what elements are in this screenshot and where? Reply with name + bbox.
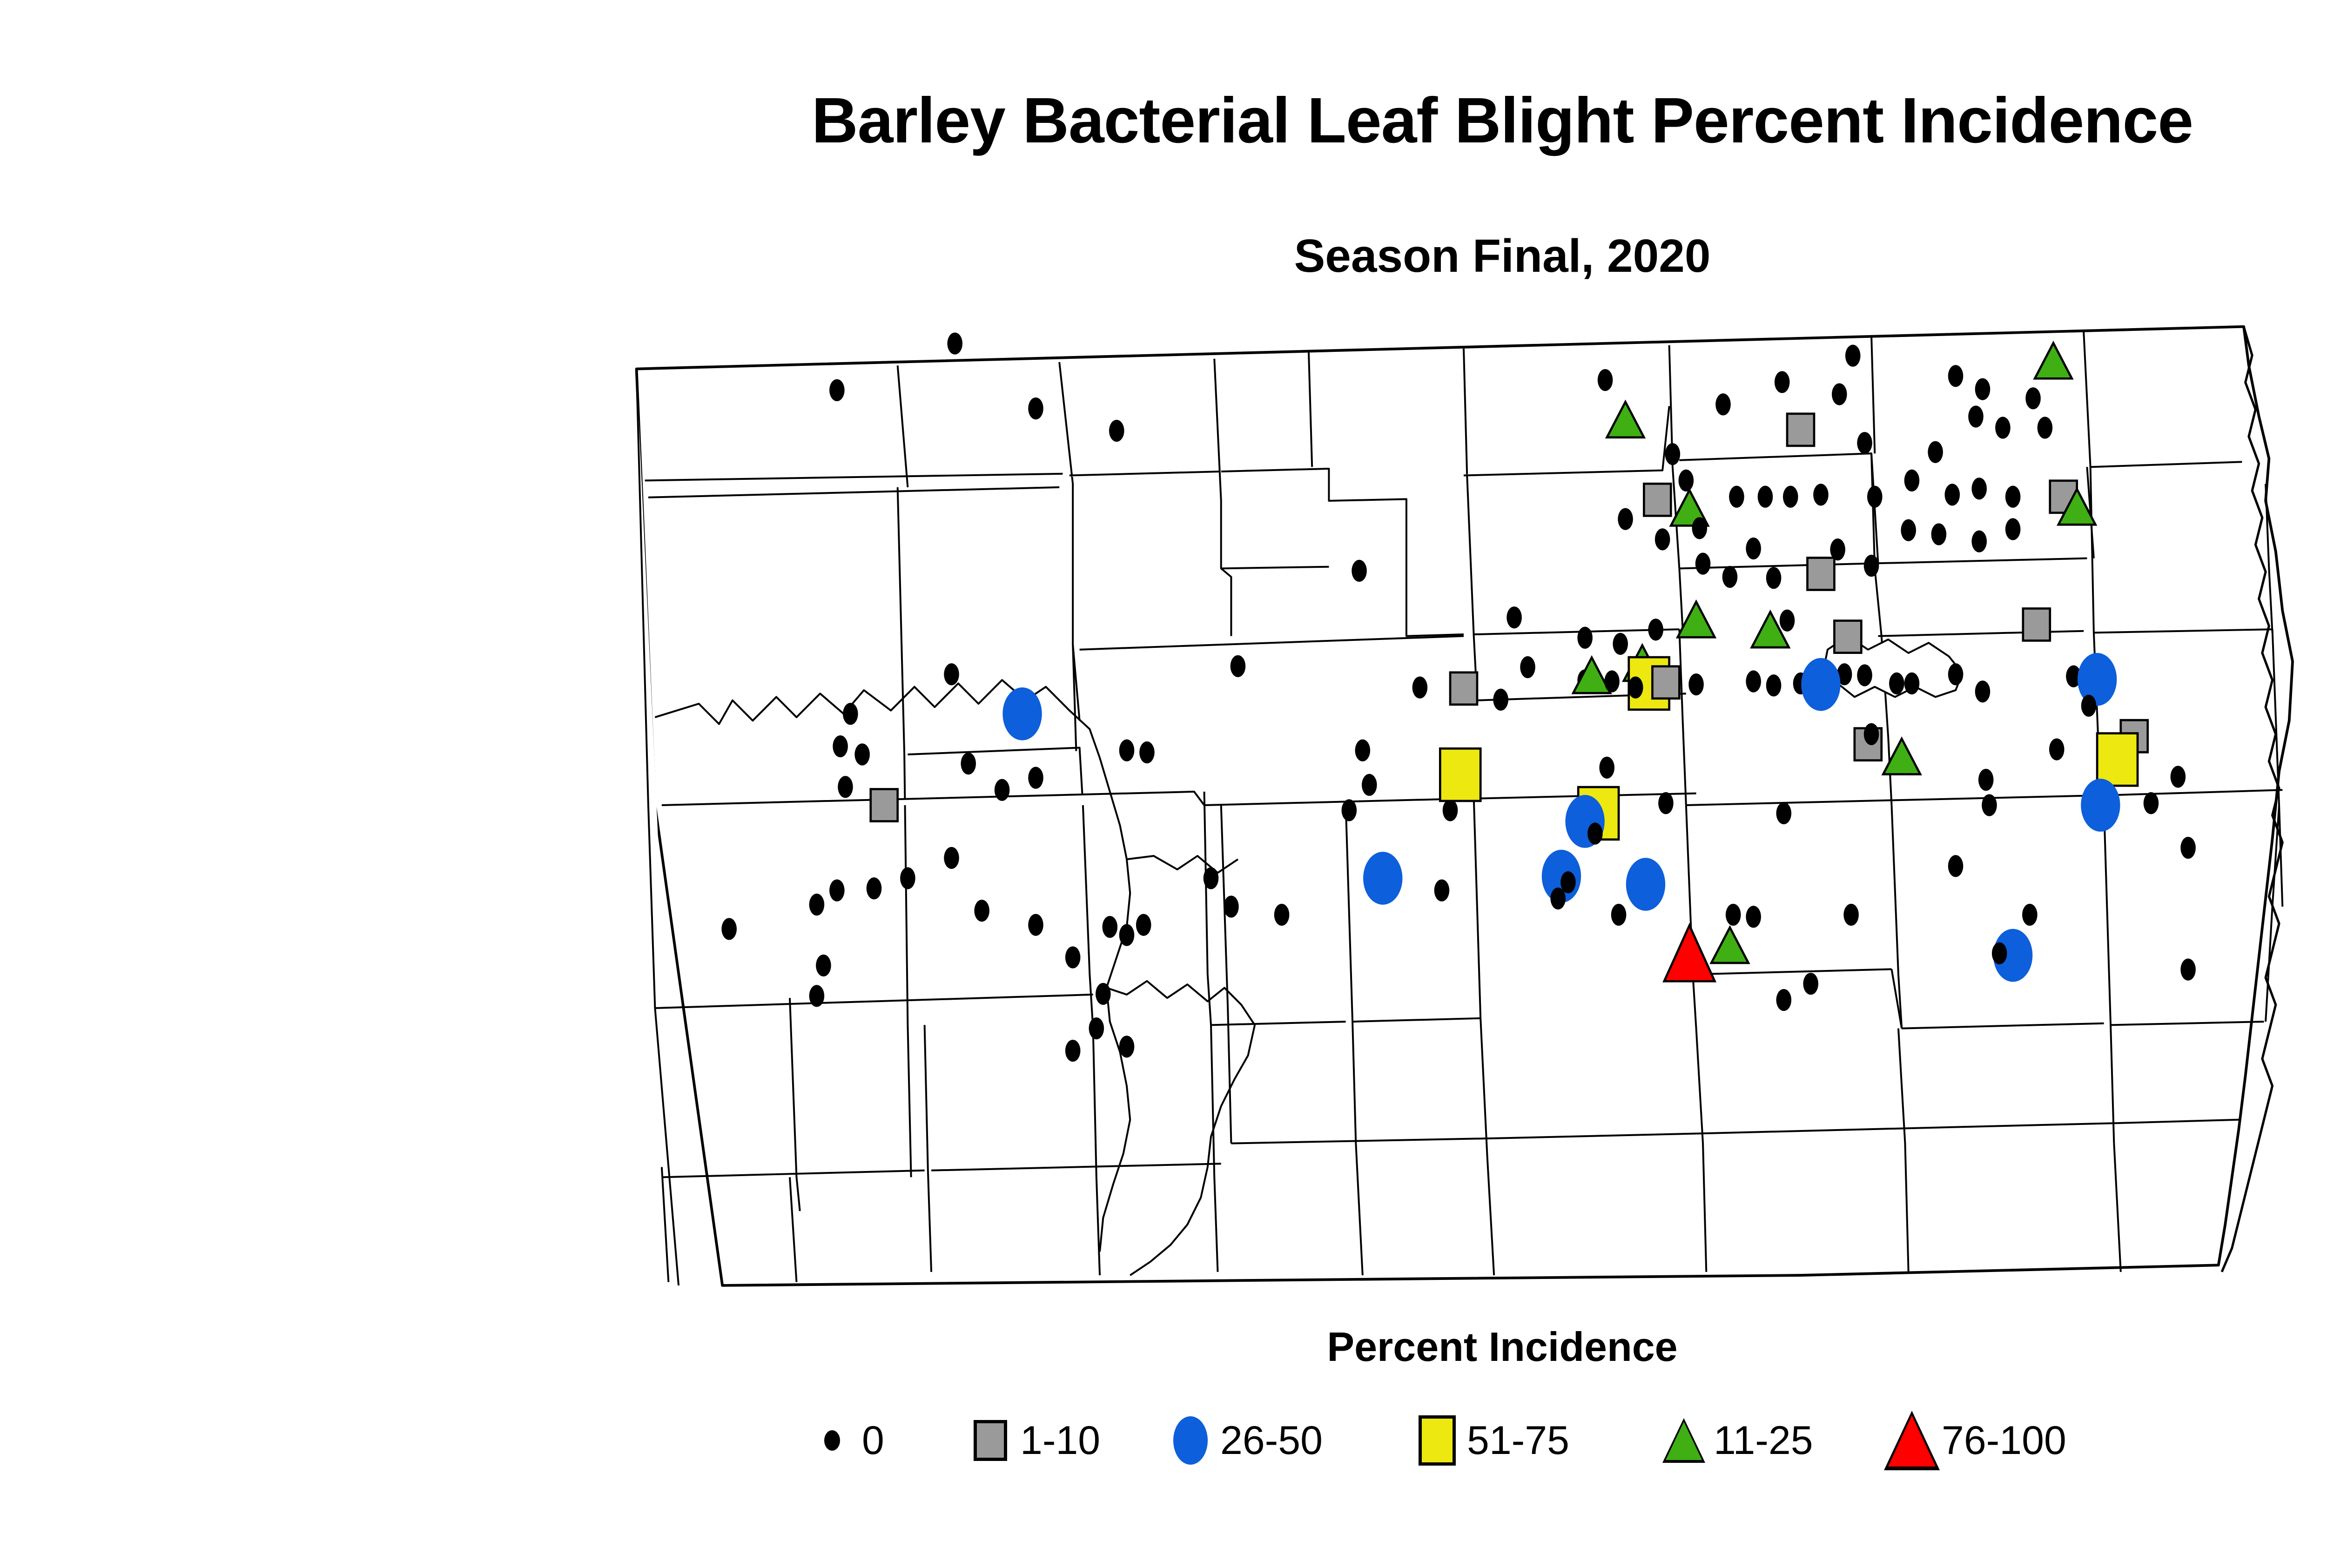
page-subtitle: Season Final, 2020 bbox=[0, 233, 2327, 279]
map-marker-0 bbox=[843, 703, 858, 725]
map-marker-0 bbox=[1665, 443, 1681, 465]
map-marker-0 bbox=[1493, 689, 1508, 711]
map-marker-0 bbox=[1658, 792, 1674, 814]
map-marker-26-50 bbox=[1364, 852, 1402, 905]
map-marker-0 bbox=[1975, 680, 1991, 702]
map-marker-0 bbox=[833, 735, 848, 757]
map-marker-0 bbox=[1109, 420, 1124, 442]
map-marker-0 bbox=[995, 779, 1010, 801]
map-marker-0 bbox=[721, 918, 737, 940]
map-marker-0 bbox=[1443, 799, 1458, 821]
map-marker-0 bbox=[1028, 397, 1043, 419]
map-marker-0 bbox=[2022, 904, 2038, 926]
map-marker-0 bbox=[809, 985, 825, 1007]
map-marker-0 bbox=[1843, 904, 1859, 926]
map-svg bbox=[621, 298, 2306, 1312]
map-marker-0 bbox=[1722, 566, 1738, 588]
map-marker-0 bbox=[1692, 517, 1708, 539]
map-marker-0 bbox=[1577, 627, 1593, 649]
map-marker-0 bbox=[1655, 528, 1670, 550]
legend-item-11-25[interactable]: 11-25 bbox=[1661, 1406, 1813, 1475]
legend-label-26-50: 26-50 bbox=[1220, 1420, 1323, 1460]
map-marker-0 bbox=[1096, 983, 1111, 1005]
legend-item-51-75[interactable]: 51-75 bbox=[1415, 1406, 1569, 1475]
map-marker-0 bbox=[1845, 345, 1861, 367]
map-marker-0 bbox=[1948, 855, 1964, 877]
legend-item-1-10[interactable]: 1-10 bbox=[968, 1406, 1100, 1475]
legend-label-0: 0 bbox=[862, 1420, 884, 1460]
map-marker-0 bbox=[1613, 633, 1628, 655]
map-marker-1-10 bbox=[1644, 484, 1671, 516]
map-marker-0 bbox=[2180, 837, 2196, 859]
map-marker-1-10 bbox=[1807, 558, 1834, 590]
map-marker-0 bbox=[1948, 365, 1964, 387]
map-marker-0 bbox=[1520, 656, 1535, 678]
map-marker-0 bbox=[1274, 904, 1290, 926]
north-dakota-county-map[interactable] bbox=[621, 298, 2306, 1312]
map-marker-0 bbox=[1775, 371, 1790, 393]
legend: 0 1-10 26-50 51-75 11-25 76-100 bbox=[0, 1406, 2327, 1480]
map-marker-0 bbox=[1119, 1036, 1135, 1057]
map-marker-0 bbox=[1857, 432, 1872, 454]
map-marker-0 bbox=[1928, 441, 1943, 463]
map-marker-0 bbox=[1992, 942, 2007, 964]
map-marker-0 bbox=[2049, 738, 2065, 760]
map-marker-1-10 bbox=[1834, 621, 1861, 653]
map-marker-1-10 bbox=[2023, 608, 2050, 640]
map-marker-0 bbox=[2180, 959, 2196, 981]
map-marker-0 bbox=[1628, 677, 1643, 699]
map-marker-26-50 bbox=[1003, 687, 1042, 740]
map-marker-0 bbox=[1599, 757, 1614, 779]
map-marker-0 bbox=[1832, 383, 1847, 405]
map-marker-0 bbox=[829, 880, 845, 902]
map-marker-26-50 bbox=[2081, 779, 2120, 832]
map-marker-0 bbox=[944, 847, 959, 869]
map-marker-0 bbox=[1679, 470, 1694, 491]
legend-label-76-100: 76-100 bbox=[1942, 1420, 2066, 1460]
map-marker-0 bbox=[1746, 670, 1761, 692]
map-marker-0 bbox=[1065, 1040, 1081, 1062]
gray-square-icon bbox=[968, 1415, 1013, 1466]
map-marker-0 bbox=[2025, 387, 2041, 409]
map-marker-0 bbox=[1901, 519, 1916, 541]
map-marker-0 bbox=[1776, 802, 1792, 824]
map-marker-1-10 bbox=[1652, 666, 1679, 699]
map-marker-0 bbox=[1904, 470, 1920, 491]
map-marker-0 bbox=[1028, 914, 1043, 936]
legend-label-11-25: 11-25 bbox=[1714, 1420, 1813, 1460]
chart-page: Barley Bacterial Leaf Blight Percent Inc… bbox=[0, 0, 2327, 1568]
map-marker-51-75 bbox=[2097, 734, 2138, 786]
map-marker-0 bbox=[1864, 723, 1879, 745]
map-marker-1-10 bbox=[871, 789, 898, 821]
map-marker-0 bbox=[1945, 484, 1960, 505]
yellow-square-icon bbox=[1415, 1415, 1459, 1466]
map-marker-0 bbox=[1746, 906, 1761, 928]
map-marker-0 bbox=[1587, 822, 1603, 844]
map-marker-0 bbox=[1746, 538, 1761, 559]
map-marker-0 bbox=[2171, 766, 2186, 787]
map-marker-0 bbox=[900, 867, 915, 889]
red-triangle-icon bbox=[1890, 1415, 1934, 1466]
map-marker-1-10 bbox=[1450, 673, 1477, 705]
map-marker-0 bbox=[1204, 867, 1219, 889]
map-marker-0 bbox=[1695, 553, 1711, 575]
legend-label-51-75: 51-75 bbox=[1467, 1420, 1569, 1460]
map-marker-0 bbox=[2038, 417, 2053, 438]
map-marker-0 bbox=[1715, 393, 1731, 415]
map-marker-0 bbox=[1355, 740, 1371, 761]
dot-icon bbox=[810, 1415, 854, 1466]
map-marker-0 bbox=[1813, 484, 1829, 505]
map-marker-0 bbox=[867, 877, 882, 899]
map-marker-26-50 bbox=[1802, 658, 1840, 711]
map-marker-0 bbox=[1119, 924, 1135, 946]
map-marker-51-75 bbox=[1440, 748, 1480, 801]
map-marker-0 bbox=[1648, 619, 1663, 640]
map-marker-0 bbox=[816, 955, 831, 976]
map-marker-0 bbox=[1342, 799, 1357, 821]
map-marker-0 bbox=[974, 900, 989, 922]
map-marker-0 bbox=[1618, 508, 1633, 530]
map-marker-0 bbox=[1889, 673, 1904, 694]
map-marker-0 bbox=[1506, 606, 1522, 628]
map-marker-0 bbox=[1139, 741, 1155, 763]
green-triangle-icon bbox=[1661, 1415, 1706, 1466]
map-marker-0 bbox=[944, 663, 959, 685]
map-marker-0 bbox=[1982, 794, 1997, 816]
map-marker-0 bbox=[1550, 888, 1566, 909]
map-marker-0 bbox=[1065, 946, 1081, 968]
map-marker-0 bbox=[2081, 695, 2097, 717]
map-marker-0 bbox=[1089, 1017, 1104, 1039]
map-marker-0 bbox=[1119, 740, 1135, 761]
legend-title: Percent Incidence bbox=[0, 1326, 2327, 1367]
map-marker-0 bbox=[2005, 486, 2021, 508]
map-marker-0 bbox=[1867, 486, 1883, 508]
map-marker-0 bbox=[1931, 523, 1947, 545]
map-marker-0 bbox=[1971, 531, 1987, 552]
map-marker-0 bbox=[1560, 871, 1576, 893]
map-marker-0 bbox=[838, 776, 853, 798]
map-marker-0 bbox=[1028, 767, 1043, 789]
map-marker-0 bbox=[1971, 478, 1987, 499]
map-marker-0 bbox=[947, 332, 962, 354]
map-marker-0 bbox=[1978, 769, 1994, 791]
map-marker-0 bbox=[1968, 405, 1984, 427]
map-marker-0 bbox=[1362, 774, 1377, 796]
map-marker-0 bbox=[1412, 677, 1428, 699]
map-marker-0 bbox=[1995, 417, 2011, 438]
map-marker-0 bbox=[1803, 973, 1818, 995]
legend-item-26-50[interactable]: 26-50 bbox=[1168, 1406, 1323, 1475]
map-marker-0 bbox=[1598, 369, 1613, 391]
legend-item-76-100[interactable]: 76-100 bbox=[1890, 1406, 2066, 1475]
map-marker-0 bbox=[1783, 486, 1798, 508]
map-marker-0 bbox=[1611, 904, 1627, 926]
map-marker-0 bbox=[2144, 792, 2159, 814]
map-marker-0 bbox=[1857, 664, 1872, 686]
map-marker-0 bbox=[1830, 538, 1845, 560]
map-marker-1-10 bbox=[1787, 414, 1814, 446]
map-marker-0 bbox=[1904, 673, 1920, 694]
map-marker-0 bbox=[854, 743, 870, 765]
map-marker-0 bbox=[1864, 555, 1879, 577]
map-marker-0 bbox=[1352, 560, 1367, 582]
map-marker-0 bbox=[1776, 989, 1792, 1011]
page-title: Barley Bacterial Leaf Blight Percent Inc… bbox=[0, 88, 2327, 153]
map-marker-0 bbox=[1103, 916, 1118, 938]
blue-circle-icon bbox=[1168, 1415, 1213, 1466]
map-marker-0 bbox=[1231, 655, 1246, 677]
map-marker-0 bbox=[1604, 670, 1620, 692]
map-marker-0 bbox=[1766, 567, 1782, 589]
map-marker-0 bbox=[1766, 674, 1782, 696]
map-marker-0 bbox=[961, 753, 976, 774]
map-marker-0 bbox=[1975, 378, 1991, 400]
map-marker-26-50 bbox=[1626, 858, 1665, 911]
map-marker-0 bbox=[1729, 486, 1744, 508]
map-marker-0 bbox=[1726, 904, 1741, 926]
map-marker-0 bbox=[1136, 914, 1151, 936]
map-marker-0 bbox=[1948, 663, 1964, 685]
map-marker-0 bbox=[1224, 895, 1239, 917]
legend-item-0[interactable]: 0 bbox=[810, 1406, 884, 1475]
map-marker-0 bbox=[809, 894, 825, 915]
map-marker-0 bbox=[1434, 880, 1450, 902]
map-marker-0 bbox=[1758, 486, 1773, 508]
map-marker-0 bbox=[1780, 610, 1795, 632]
map-marker-0 bbox=[2005, 518, 2021, 540]
map-marker-0 bbox=[829, 379, 845, 401]
map-marker-0 bbox=[1688, 673, 1704, 695]
legend-label-1-10: 1-10 bbox=[1020, 1420, 1100, 1460]
